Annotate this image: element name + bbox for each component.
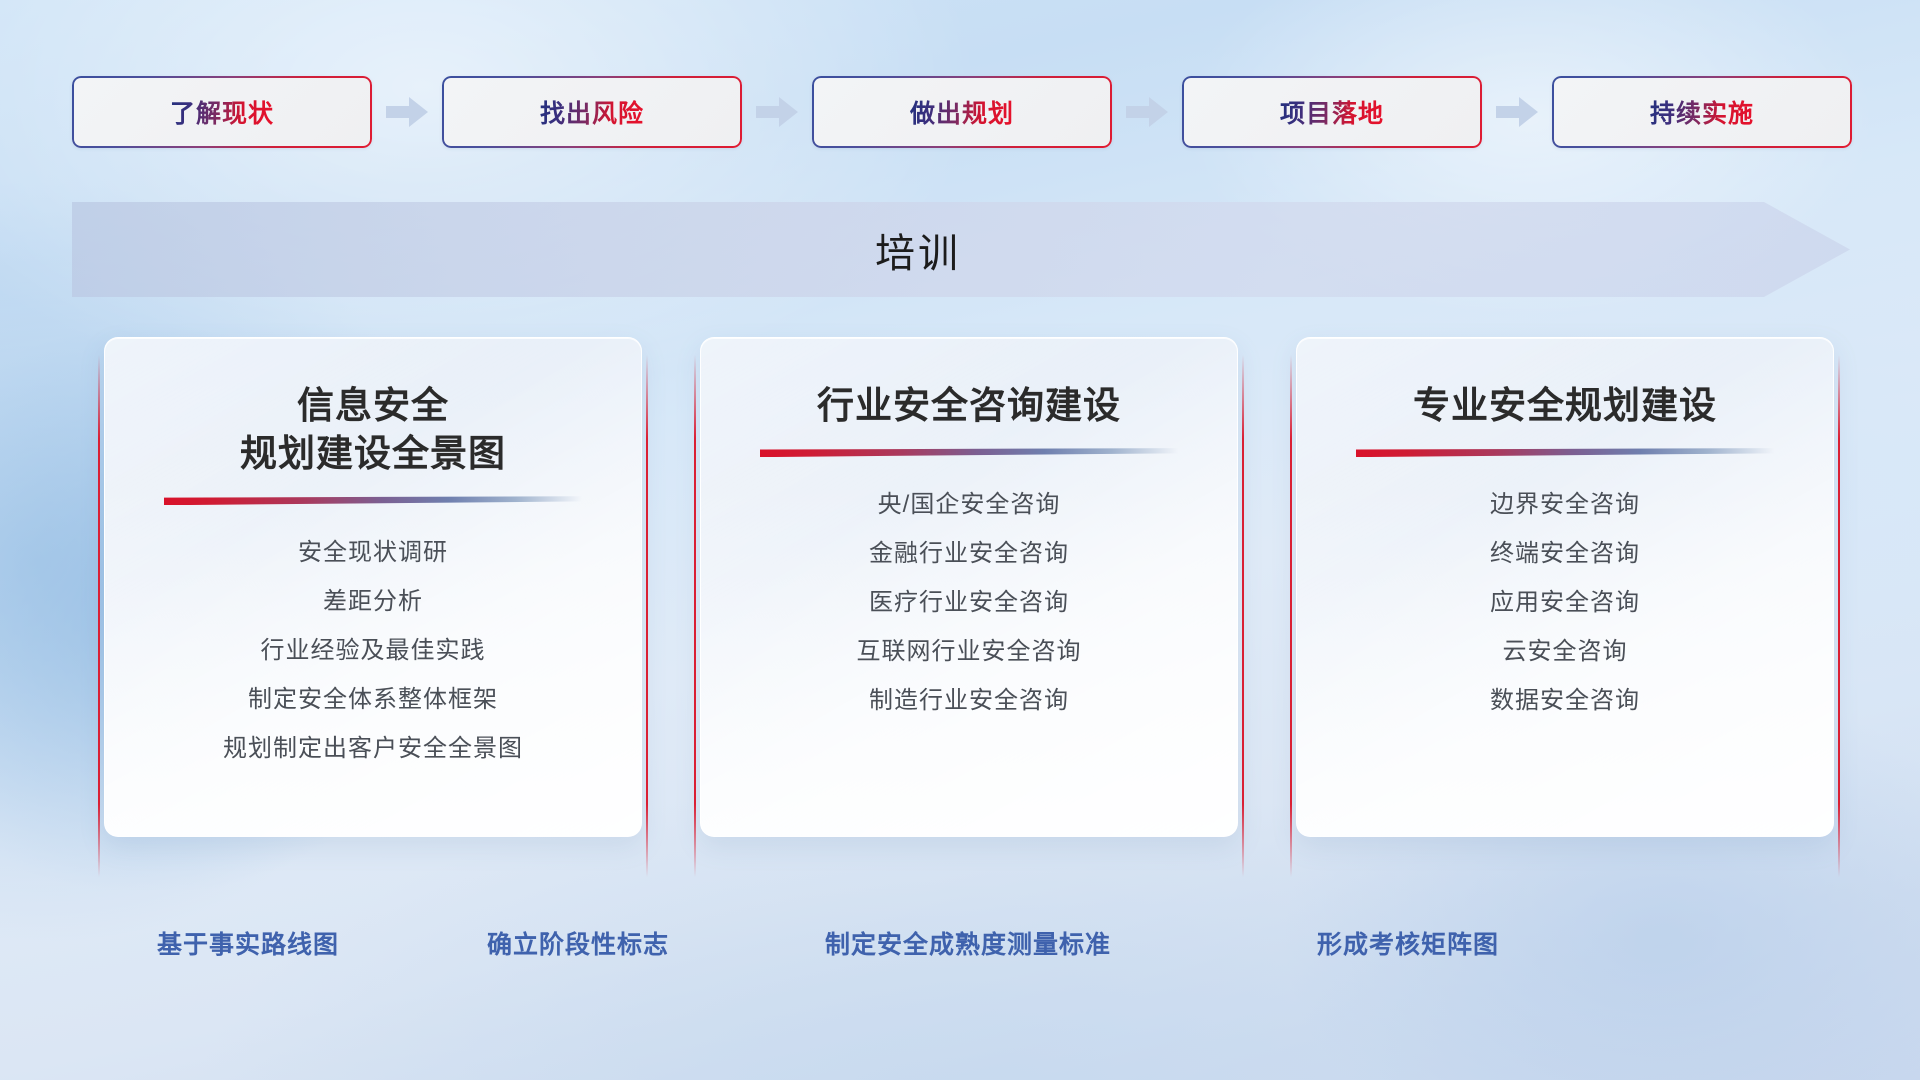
card-rail-right-2 [1242, 355, 1244, 877]
list-item: 规划制定出客户安全全景图 [223, 731, 523, 767]
list-item: 互联网行业安全咨询 [857, 634, 1082, 670]
footer-label-row: 基于事实路线图 确立阶段性标志 制定安全成熟度测量标准 形成考核矩阵图 [0, 925, 1920, 969]
step-label-3: 做出规划 [910, 94, 1014, 130]
step-box-3[interactable]: 做出规划 [812, 76, 1112, 148]
card-rail-left-3 [1290, 355, 1292, 877]
list-item: 差距分析 [323, 584, 423, 620]
list-item: 数据安全咨询 [1490, 683, 1640, 719]
step-box-2[interactable]: 找出风险 [442, 76, 742, 148]
card-wrapper-1: 信息安全 规划建设全景图 安全现状调研 差距分析 行业经验及最佳实践 制定安全体… [104, 337, 642, 877]
card-title-1: 信息安全 规划建设全景图 [240, 382, 506, 478]
banner-title: 培训 [72, 202, 1850, 297]
card-divider-3 [1356, 448, 1774, 457]
footer-label-2: 确立阶段性标志 [487, 925, 669, 961]
card-list-2: 央/国企安全咨询 金融行业安全咨询 医疗行业安全咨询 互联网行业安全咨询 制造行… [701, 487, 1237, 719]
footer-label-4: 形成考核矩阵图 [1317, 925, 1499, 961]
card-rail-left-2 [694, 355, 696, 877]
list-item: 行业经验及最佳实践 [261, 633, 486, 669]
card-divider-2 [760, 448, 1178, 457]
list-item: 金融行业安全咨询 [869, 536, 1069, 572]
list-item: 终端安全咨询 [1490, 536, 1640, 572]
card-2[interactable]: 行业安全咨询建设 央/国企安全咨询 金融行业安全咨询 医疗行业安全咨询 互联网行… [700, 337, 1238, 837]
card-rail-right-1 [646, 355, 648, 877]
card-rail-right-3 [1838, 355, 1840, 877]
footer-label-3: 制定安全成熟度测量标准 [825, 925, 1111, 961]
step-label-1: 了解现状 [170, 94, 274, 130]
list-item: 央/国企安全咨询 [878, 487, 1061, 523]
step-arrow-icon-2 [742, 97, 812, 127]
list-item: 边界安全咨询 [1490, 487, 1640, 523]
card-list-1: 安全现状调研 差距分析 行业经验及最佳实践 制定安全体系整体框架 规划制定出客户… [105, 535, 641, 767]
card-group: 信息安全 规划建设全景图 安全现状调研 差距分析 行业经验及最佳实践 制定安全体… [104, 337, 1834, 877]
list-item: 应用安全咨询 [1490, 585, 1640, 621]
slide-canvas: 了解现状 找出风险 做出规划 项目落地 [0, 0, 1920, 1080]
step-box-4[interactable]: 项目落地 [1182, 76, 1482, 148]
list-item: 医疗行业安全咨询 [869, 585, 1069, 621]
step-arrow-icon-1 [372, 97, 442, 127]
step-label-2: 找出风险 [540, 94, 644, 130]
list-item: 制定安全体系整体框架 [248, 682, 498, 718]
card-1[interactable]: 信息安全 规划建设全景图 安全现状调研 差距分析 行业经验及最佳实践 制定安全体… [104, 337, 642, 837]
card-3[interactable]: 专业安全规划建设 边界安全咨询 终端安全咨询 应用安全咨询 云安全咨询 数据安全… [1296, 337, 1834, 837]
card-divider-1 [164, 496, 582, 505]
training-banner: 培训 [72, 202, 1850, 297]
card-rail-left-1 [98, 355, 100, 877]
card-wrapper-2: 行业安全咨询建设 央/国企安全咨询 金融行业安全咨询 医疗行业安全咨询 互联网行… [700, 337, 1238, 877]
list-item: 云安全咨询 [1503, 634, 1628, 670]
step-box-5[interactable]: 持续实施 [1552, 76, 1852, 148]
card-title-3: 专业安全规划建设 [1413, 382, 1717, 430]
step-label-5: 持续实施 [1650, 94, 1754, 130]
card-list-3: 边界安全咨询 终端安全咨询 应用安全咨询 云安全咨询 数据安全咨询 [1297, 487, 1833, 719]
step-arrow-icon-3 [1112, 97, 1182, 127]
card-wrapper-3: 专业安全规划建设 边界安全咨询 终端安全咨询 应用安全咨询 云安全咨询 数据安全… [1296, 337, 1834, 877]
step-arrow-icon-4 [1482, 97, 1552, 127]
step-label-4: 项目落地 [1280, 94, 1384, 130]
process-step-row: 了解现状 找出风险 做出规划 项目落地 [72, 76, 1852, 148]
list-item: 制造行业安全咨询 [869, 683, 1069, 719]
list-item: 安全现状调研 [298, 535, 448, 571]
step-box-1[interactable]: 了解现状 [72, 76, 372, 148]
footer-label-1: 基于事实路线图 [157, 925, 339, 961]
card-title-2: 行业安全咨询建设 [817, 382, 1121, 430]
